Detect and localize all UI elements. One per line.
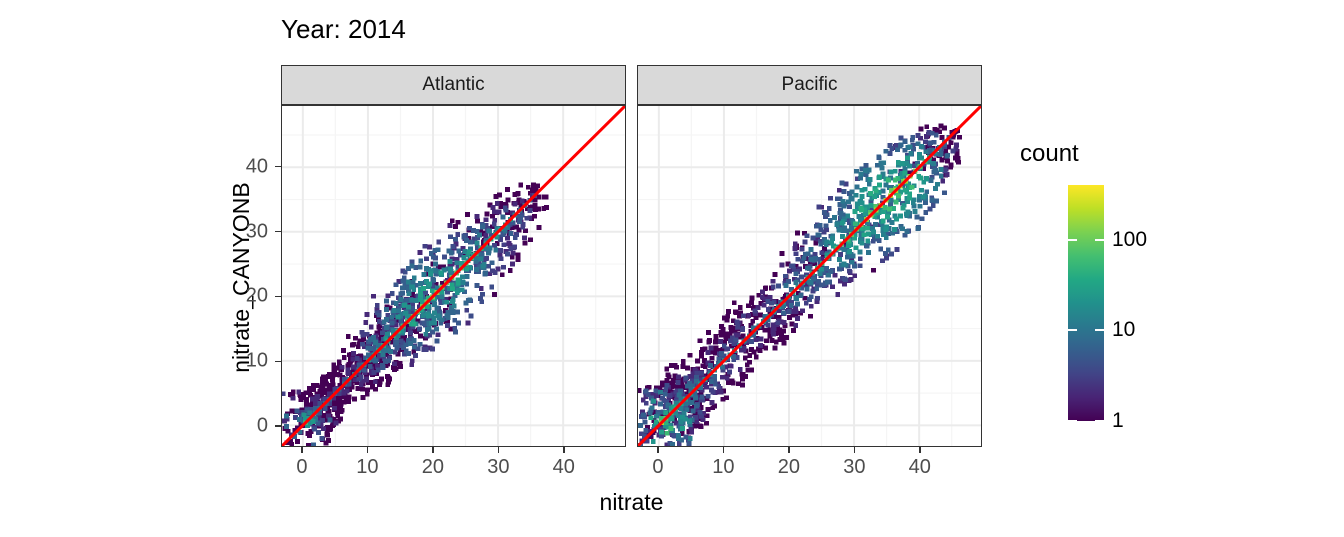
reference-line-atlantic (282, 106, 625, 446)
facet-strip-label: Pacific (782, 74, 838, 96)
facet-strip-pacific: Pacific (637, 65, 982, 105)
x-axis-title: nitrate (281, 489, 982, 516)
x-tick-label: 0 (652, 456, 663, 479)
legend-tick-mark (1068, 420, 1104, 422)
legend-colorbar (1068, 185, 1104, 421)
x-tick-label: 40 (909, 456, 931, 479)
x-tick-mark (367, 447, 369, 453)
facet-strip-atlantic: Atlantic (281, 65, 626, 105)
x-tick-label: 20 (422, 456, 444, 479)
reference-line-pacific (638, 106, 981, 446)
y-tick-mark (275, 166, 281, 168)
x-tick-label: 0 (296, 456, 307, 479)
legend-tick-mark (1068, 329, 1104, 331)
x-tick-mark (432, 447, 434, 453)
y-tick-label: 40 (246, 155, 268, 178)
x-tick-mark (657, 447, 659, 453)
x-tick-mark (498, 447, 500, 453)
x-tick-label: 30 (487, 456, 509, 479)
x-tick-mark (788, 447, 790, 453)
legend-title: count (1020, 140, 1079, 168)
legend-tick-label: 100 (1112, 228, 1147, 252)
y-tick-label: 20 (246, 285, 268, 308)
legend-tick-label: 10 (1112, 318, 1135, 342)
plot-title: Year: 2014 (281, 13, 406, 45)
x-tick-mark (723, 447, 725, 453)
x-tick-mark (301, 447, 303, 453)
x-tick-label: 10 (356, 456, 378, 479)
panel-pacific (637, 105, 982, 447)
x-tick-mark (854, 447, 856, 453)
x-tick-label: 10 (712, 456, 734, 479)
y-tick-mark (275, 231, 281, 233)
plot-root: Year: 2014 nitrate_CANYONB nitrate Atlan… (0, 0, 1344, 537)
y-tick-label: 10 (246, 350, 268, 373)
x-tick-label: 30 (843, 456, 865, 479)
y-tick-mark (275, 425, 281, 427)
x-tick-mark (563, 447, 565, 453)
x-tick-label: 40 (553, 456, 575, 479)
legend-count: count 100101 (1020, 140, 1220, 440)
y-tick-label: 0 (257, 415, 268, 438)
y-tick-mark (275, 296, 281, 298)
y-tick-mark (275, 361, 281, 363)
x-tick-mark (919, 447, 921, 453)
panel-atlantic (281, 105, 626, 447)
legend-tick-mark (1068, 239, 1104, 241)
x-tick-label: 20 (778, 456, 800, 479)
facet-strip-label: Atlantic (422, 74, 484, 96)
legend-tick-label: 1 (1112, 409, 1124, 433)
y-tick-label: 30 (246, 220, 268, 243)
